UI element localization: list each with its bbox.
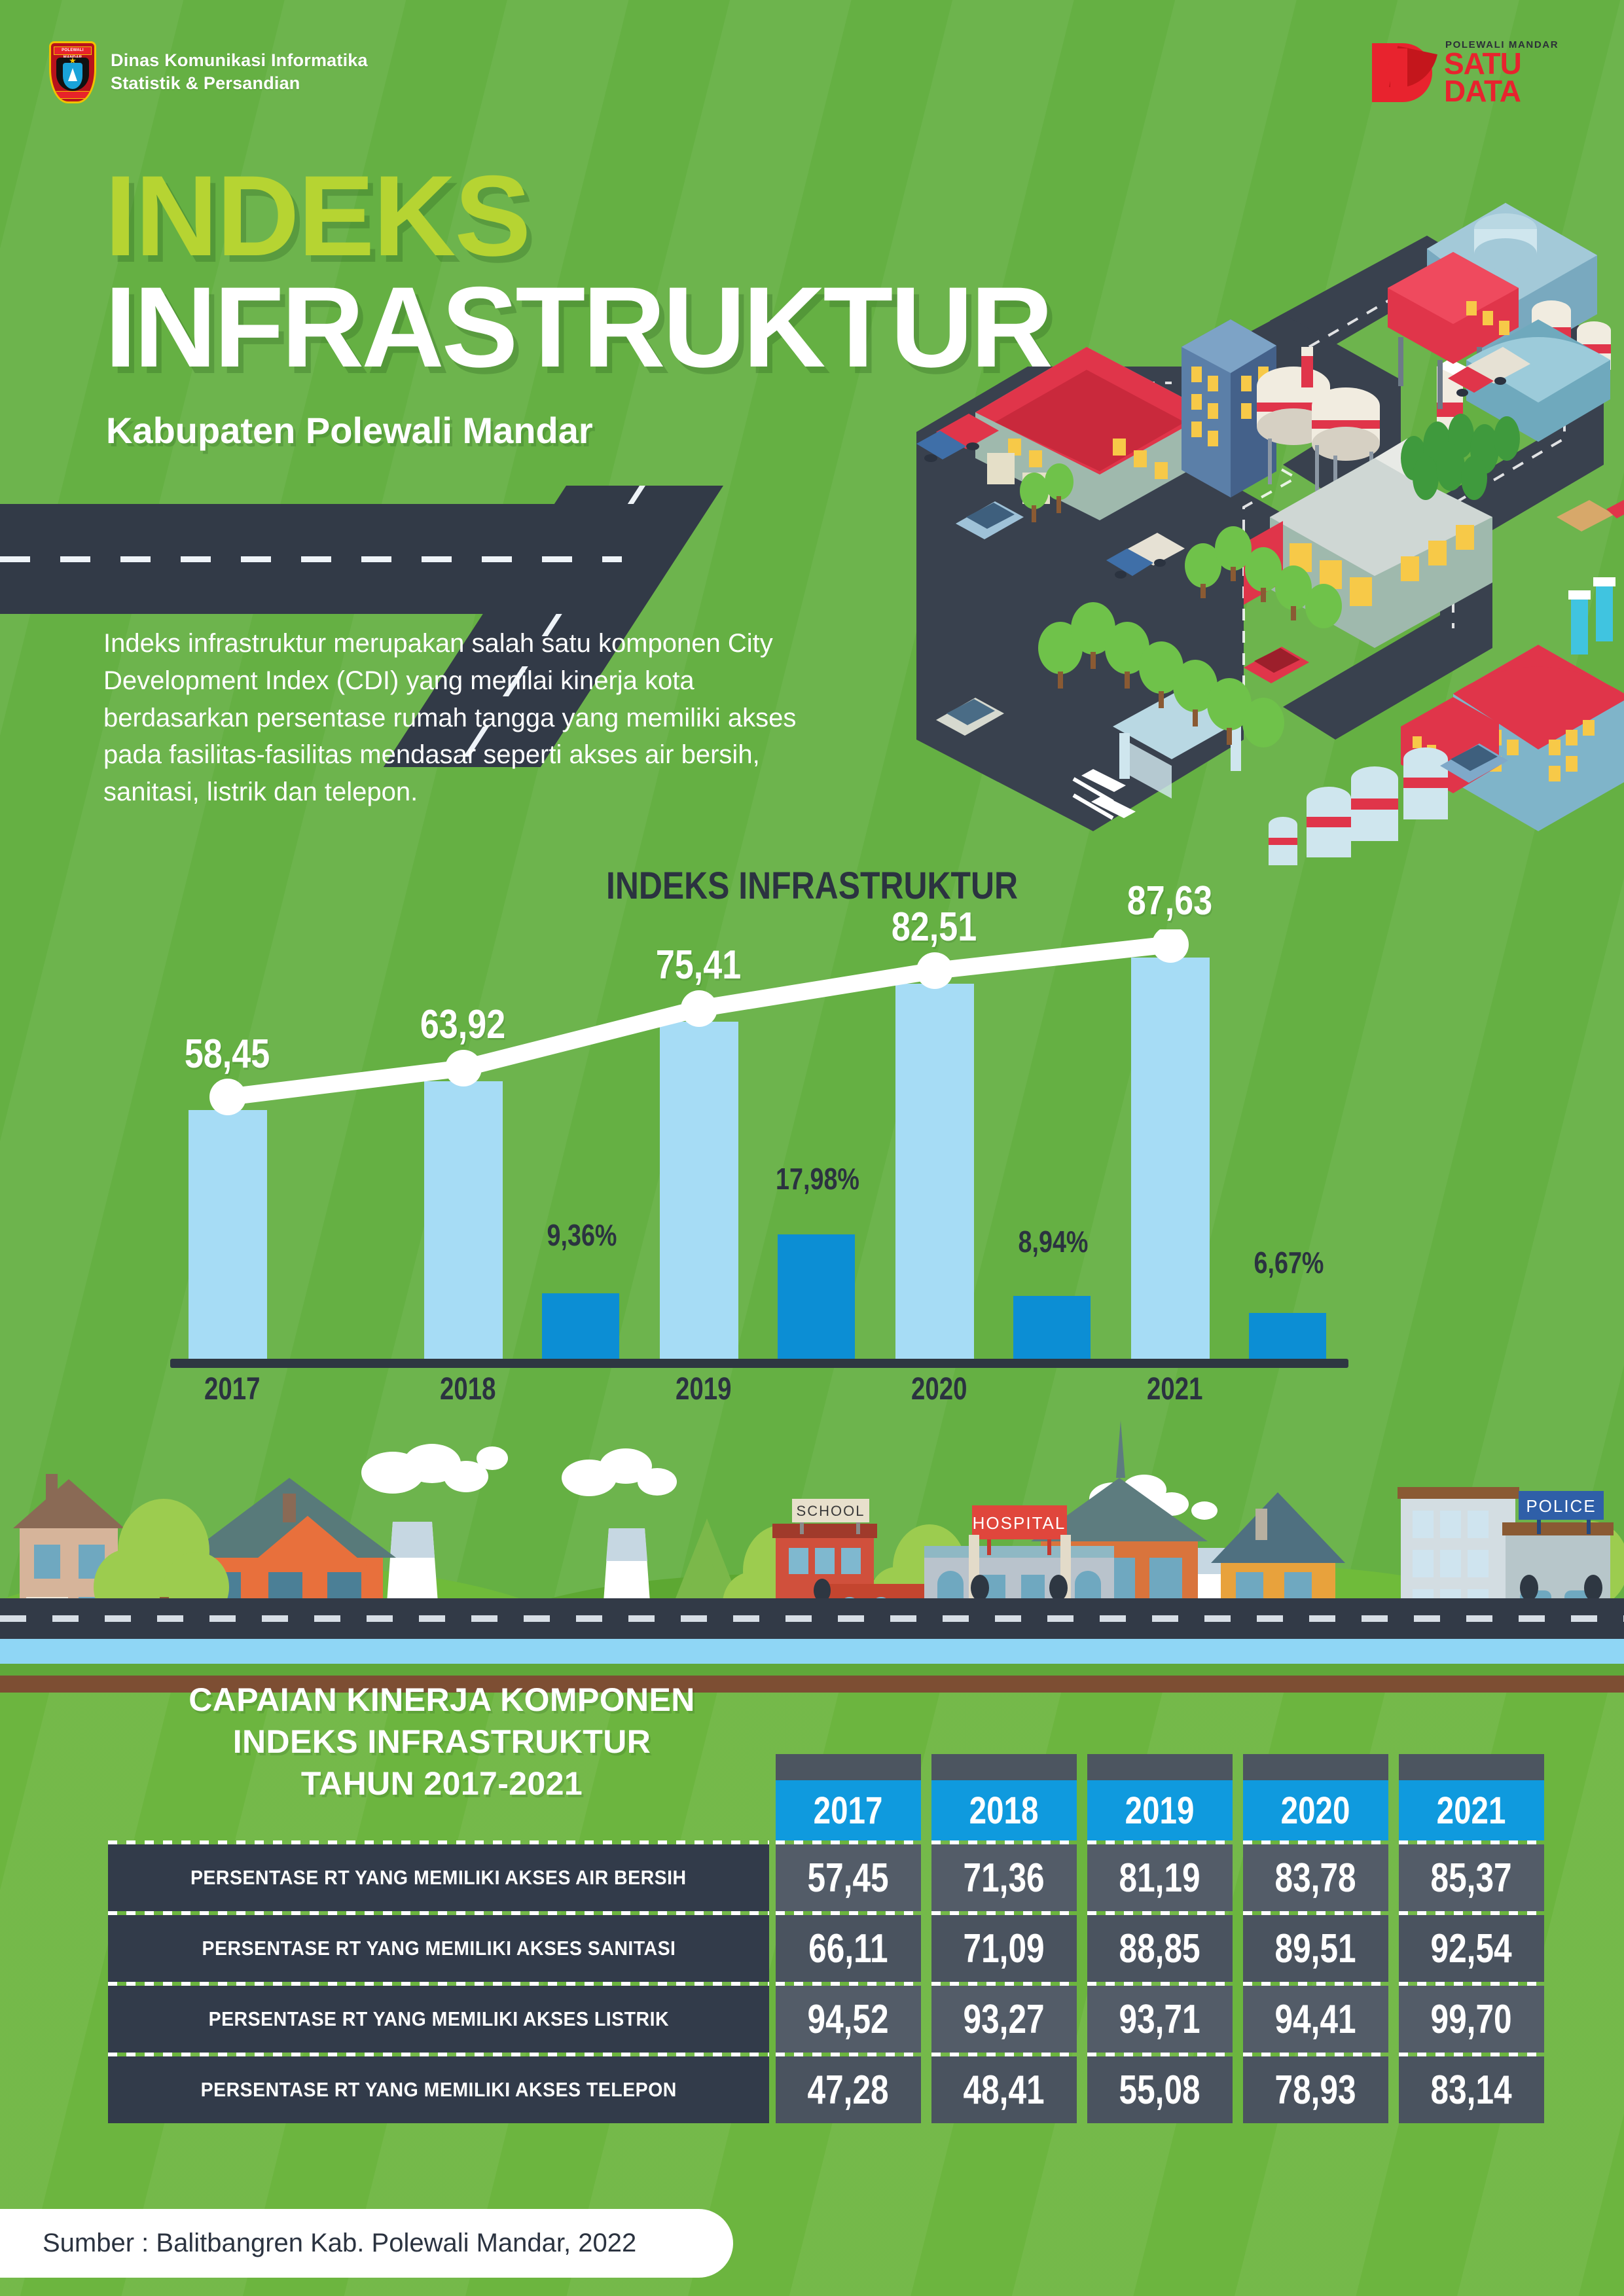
table-cell-sanitasi-2017: 66,11	[808, 1926, 888, 1972]
header-org-name: Dinas Komunikasi Informatika Statistik &…	[111, 49, 368, 94]
table-row: PERSENTASE RT YANG MEMILIKI AKSES SANITA…	[108, 1915, 769, 1982]
chart-bar-index-2017	[189, 1110, 267, 1359]
table-row-label-telepon: PERSENTASE RT YANG MEMILIKI AKSES TELEPO…	[200, 2078, 676, 2102]
table-cell-listrik-2020: 94,41	[1275, 1996, 1356, 2043]
table-col-header-2020: 2020	[1281, 1789, 1350, 1833]
chart-bar-growth-2019	[778, 1234, 855, 1359]
chart-value-label-2020: 82,51	[882, 904, 986, 950]
table-cell-airbersih-2019: 81,19	[1119, 1855, 1200, 1901]
description-text: Indeks infrastruktur merupakan salah sat…	[103, 625, 837, 811]
table-cell-listrik-2018: 93,27	[964, 1996, 1045, 2043]
table-column-2020: 2020	[1243, 1754, 1388, 1840]
table-cell-sanitasi-2018: 71,09	[964, 1926, 1045, 1972]
table-cell-telepon-2020: 78,93	[1275, 2067, 1356, 2113]
satu-data-logo: POLEWALI MANDAR SATU DATA	[1372, 31, 1588, 107]
chart-value-label-2021: 87,63	[1117, 878, 1222, 924]
chart-group-2019: 75,41 17,98%	[641, 940, 877, 1359]
chart-growth-label-2021: 6,67%	[1241, 1245, 1337, 1280]
page-title-line1: INDEKS	[105, 164, 530, 269]
chart-bar-growth-2020	[1013, 1296, 1091, 1359]
chart-group-2017: 58,45	[170, 940, 406, 1359]
strip-road	[0, 1598, 1624, 1639]
school-sign-text: SCHOOL	[797, 1503, 865, 1519]
table-cell-listrik-2019: 93,71	[1119, 1996, 1200, 2043]
table-row-label-sanitasi: PERSENTASE RT YANG MEMILIKI AKSES SANITA…	[202, 1937, 676, 1960]
table-row: PERSENTASE RT YANG MEMILIKI AKSES AIR BE…	[108, 1844, 769, 1911]
table-heading-line1: CAPAIAN KINERJA KOMPONEN	[115, 1679, 769, 1721]
chart-title: INDEKS INFRASTRUKTUR	[114, 864, 1511, 908]
table-cell-telepon-2017: 47,28	[808, 2067, 889, 2113]
table-cell-listrik-2017: 94,52	[808, 1996, 889, 2043]
table-col-header-2017: 2017	[814, 1789, 883, 1833]
table-row: PERSENTASE RT YANG MEMILIKI AKSES LISTRI…	[108, 1986, 769, 2053]
header-branding: POLEWALI MANDAR ★ Dinas Komunikasi Infor…	[49, 36, 573, 108]
table-row-label-listrik: PERSENTASE RT YANG MEMILIKI AKSES LISTRI…	[208, 2007, 668, 2031]
satu-data-one-icon	[1390, 48, 1407, 89]
table-values-2018: 71,36 71,09 93,27 48,41	[931, 1840, 1077, 2123]
chart-value-label-2018: 63,92	[410, 1001, 515, 1048]
table-cell-sanitasi-2021: 92,54	[1431, 1926, 1512, 1972]
table-column-2018: 2018	[931, 1754, 1077, 1840]
table-cell-telepon-2021: 83,14	[1431, 2067, 1512, 2113]
satu-logo-data-label: DATA	[1444, 77, 1521, 105]
chart-group-2020: 82,51 8,94%	[877, 940, 1113, 1359]
header-org-line2: Statistik & Persandian	[111, 72, 368, 95]
chart-bar-index-2021	[1131, 958, 1210, 1359]
table-values-2021: 85,37 92,54 99,70 83,14	[1399, 1840, 1544, 2123]
hospital-sign-text: HOSPITAL	[973, 1513, 1066, 1533]
table-cell-listrik-2021: 99,70	[1431, 1996, 1512, 2043]
table-row: PERSENTASE RT YANG MEMILIKI AKSES TELEPO…	[108, 2056, 769, 2123]
chart-bar-index-2019	[660, 1022, 738, 1359]
chart-growth-label-2018: 9,36%	[534, 1217, 630, 1253]
table-row-labels: PERSENTASE RT YANG MEMILIKI AKSES AIR BE…	[108, 1840, 769, 2123]
table-column-2021: 2021	[1399, 1754, 1544, 1840]
chart-value-label-2019: 75,41	[646, 942, 751, 988]
chart-bar-index-2018	[424, 1081, 503, 1359]
table-values-2017: 57,45 66,11 94,52 47,28	[776, 1840, 921, 2123]
table-cell-airbersih-2020: 83,78	[1275, 1855, 1356, 1901]
strip-water	[0, 1639, 1624, 1664]
table-column-2017: 2017	[776, 1754, 921, 1840]
chart-growth-label-2020: 8,94%	[1005, 1224, 1101, 1259]
table-values-2020: 83,78 89,51 94,41 78,93	[1243, 1840, 1388, 2123]
road-horizontal-graphic	[0, 504, 635, 614]
chart-bar-growth-2018	[542, 1293, 619, 1359]
chart-bar-growth-2021	[1249, 1313, 1326, 1359]
chart-growth-label-2019: 17,98%	[770, 1161, 865, 1196]
table-cell-sanitasi-2020: 89,51	[1275, 1926, 1356, 1972]
header-org-line1: Dinas Komunikasi Informatika	[111, 49, 368, 72]
police-sign-text: POLICE	[1526, 1496, 1596, 1516]
chart-x-axis	[170, 1359, 1348, 1368]
isometric-city-illustration	[877, 151, 1624, 877]
table-col-header-2019: 2019	[1125, 1789, 1195, 1833]
table-cell-telepon-2019: 55,08	[1119, 2067, 1200, 2113]
table-cell-sanitasi-2019: 88,85	[1119, 1926, 1200, 1972]
table-values-2019: 81,19 88,85 93,71 55,08	[1087, 1840, 1233, 2123]
chart-group-2018: 63,92 9,36%	[406, 940, 641, 1359]
source-footer: Sumber : Balitbangren Kab. Polewali Mand…	[0, 2209, 733, 2278]
performance-table: 2017 2018 2019 2020 2021 PERSENTASE RT Y…	[108, 1754, 1561, 2147]
table-cell-airbersih-2021: 85,37	[1431, 1855, 1512, 1901]
polewali-mandar-crest-icon: POLEWALI MANDAR ★	[49, 41, 96, 103]
chart-value-label-2017: 58,45	[175, 1031, 280, 1077]
table-cell-airbersih-2017: 57,45	[808, 1855, 889, 1901]
chart-plot-area: 58,45 63,92 9,36% 75,41 17,98% 82,51 8,9…	[170, 929, 1348, 1368]
infographic-page: POLEWALI MANDAR ★ Dinas Komunikasi Infor…	[0, 0, 1624, 2296]
table-cell-telepon-2018: 48,41	[964, 2067, 1045, 2113]
source-text: Sumber : Balitbangren Kab. Polewali Mand…	[43, 2229, 636, 2258]
table-row-label-air-bersih: PERSENTASE RT YANG MEMILIKI AKSES AIR BE…	[190, 1866, 687, 1890]
page-subtitle: Kabupaten Polewali Mandar	[106, 409, 593, 452]
satu-logo-satu-label: SATU	[1444, 50, 1521, 77]
chart-group-2021: 87,63 6,67%	[1113, 940, 1348, 1359]
table-cell-airbersih-2018: 71,36	[964, 1855, 1045, 1901]
table-col-header-2021: 2021	[1437, 1789, 1506, 1833]
table-column-2019: 2019	[1087, 1754, 1233, 1840]
table-col-header-2018: 2018	[969, 1789, 1039, 1833]
chart-bar-index-2020	[895, 984, 974, 1359]
